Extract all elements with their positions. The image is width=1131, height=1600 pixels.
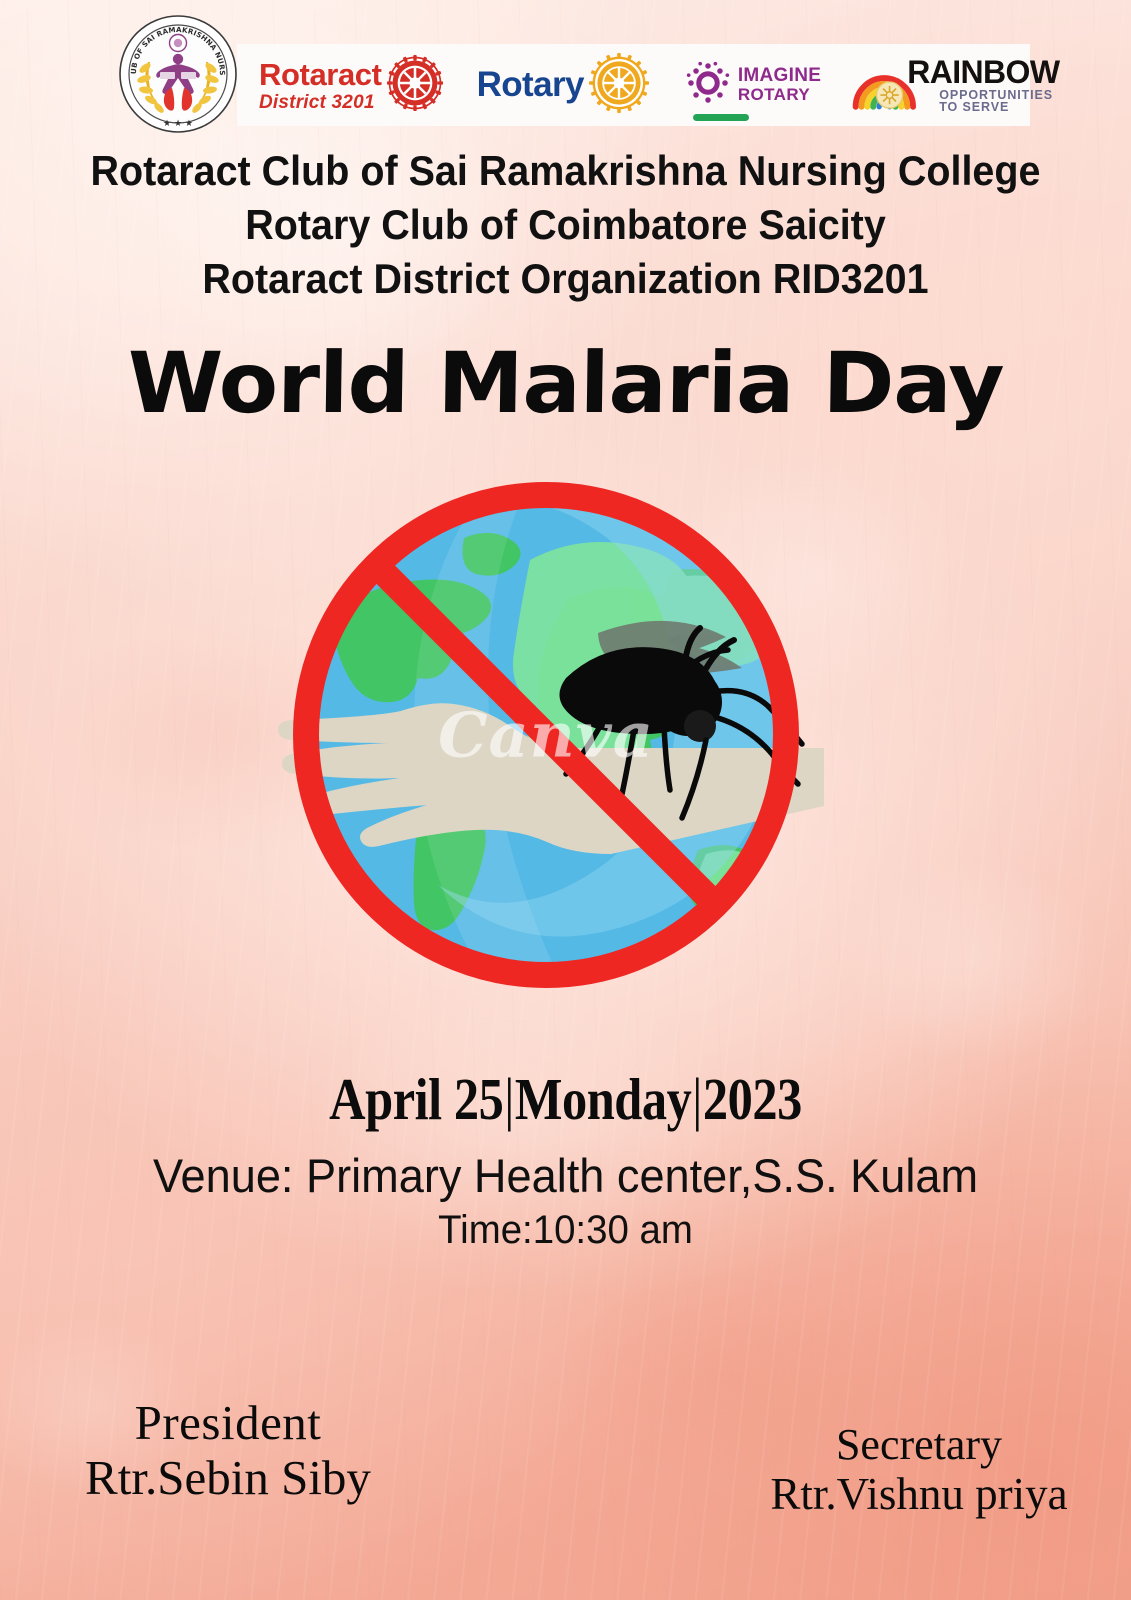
date-year: 2023 bbox=[703, 1067, 802, 1133]
president-name: Rtr.Sebin Siby bbox=[28, 1451, 428, 1506]
rainbow-logo: RAINBOW OPPORTUNITIES TO SERVE bbox=[849, 44, 1059, 126]
imagine-line2: ROTARY bbox=[738, 86, 821, 104]
rotary-wheel-icon bbox=[589, 53, 649, 118]
imagine-sunburst-icon bbox=[685, 60, 731, 111]
org-line-2: Rotary Club of Coimbatore Saicity bbox=[34, 198, 1097, 252]
svg-text:★ ★ ★: ★ ★ ★ bbox=[163, 119, 193, 129]
event-venue: Venue: Primary Health center,S.S. Kulam bbox=[23, 1148, 1109, 1203]
rotaract-logo: Rotaract District 3201 bbox=[259, 44, 443, 126]
rotaract-cogwheel-icon bbox=[387, 55, 443, 116]
organization-heading: Rotaract Club of Sai Ramakrishna Nursing… bbox=[0, 144, 1131, 305]
page-title: World Malaria Day bbox=[0, 334, 1131, 432]
college-seal-icon: ROTARACT CLUB OF SAI RAMAKRISHNA NURSING… bbox=[118, 14, 238, 132]
date-month-day: April 25 bbox=[329, 1067, 503, 1133]
imagine-line1: IMAGINE bbox=[738, 66, 821, 86]
no-malaria-globe-mosquito-illustration: Canva bbox=[268, 450, 824, 1020]
event-time: Time:10:30 am bbox=[23, 1208, 1109, 1253]
org-line-1: Rotaract Club of Sai Ramakrishna Nursing… bbox=[34, 144, 1097, 198]
imagine-green-dash bbox=[693, 114, 749, 121]
secretary-role: Secretary bbox=[719, 1420, 1119, 1469]
rainbow-name: RAINBOW bbox=[907, 56, 1059, 89]
president-role: President bbox=[28, 1396, 428, 1451]
rotary-name: Rotary bbox=[477, 65, 584, 105]
imagine-rotary-logo: IMAGINE ROTARY bbox=[685, 44, 821, 126]
date-weekday: Monday bbox=[515, 1067, 692, 1133]
signature-secretary: Secretary Rtr.Vishnu priya bbox=[719, 1420, 1119, 1520]
org-line-3: Rotaract District Organization RID3201 bbox=[34, 252, 1097, 306]
sponsor-logo-band: Rotaract District 3201 bbox=[237, 44, 1030, 126]
logo-strip: ROTARACT CLUB OF SAI RAMAKRISHNA NURSING… bbox=[0, 18, 1131, 128]
rotary-logo: Rotary bbox=[477, 44, 649, 126]
event-date: April 25|Monday|2023 bbox=[57, 1066, 1075, 1134]
rainbow-tagline: OPPORTUNITIES TO SERVE bbox=[939, 89, 1059, 115]
rotaract-district: District 3201 bbox=[259, 93, 382, 112]
date-separator-1: | bbox=[503, 1067, 514, 1133]
rotaract-name: Rotaract bbox=[259, 59, 382, 90]
poster-canvas: ROTARACT CLUB OF SAI RAMAKRISHNA NURSING… bbox=[0, 0, 1131, 1600]
signature-president: President Rtr.Sebin Siby bbox=[28, 1396, 428, 1506]
secretary-name: Rtr.Vishnu priya bbox=[719, 1469, 1119, 1519]
date-separator-2: | bbox=[691, 1067, 702, 1133]
